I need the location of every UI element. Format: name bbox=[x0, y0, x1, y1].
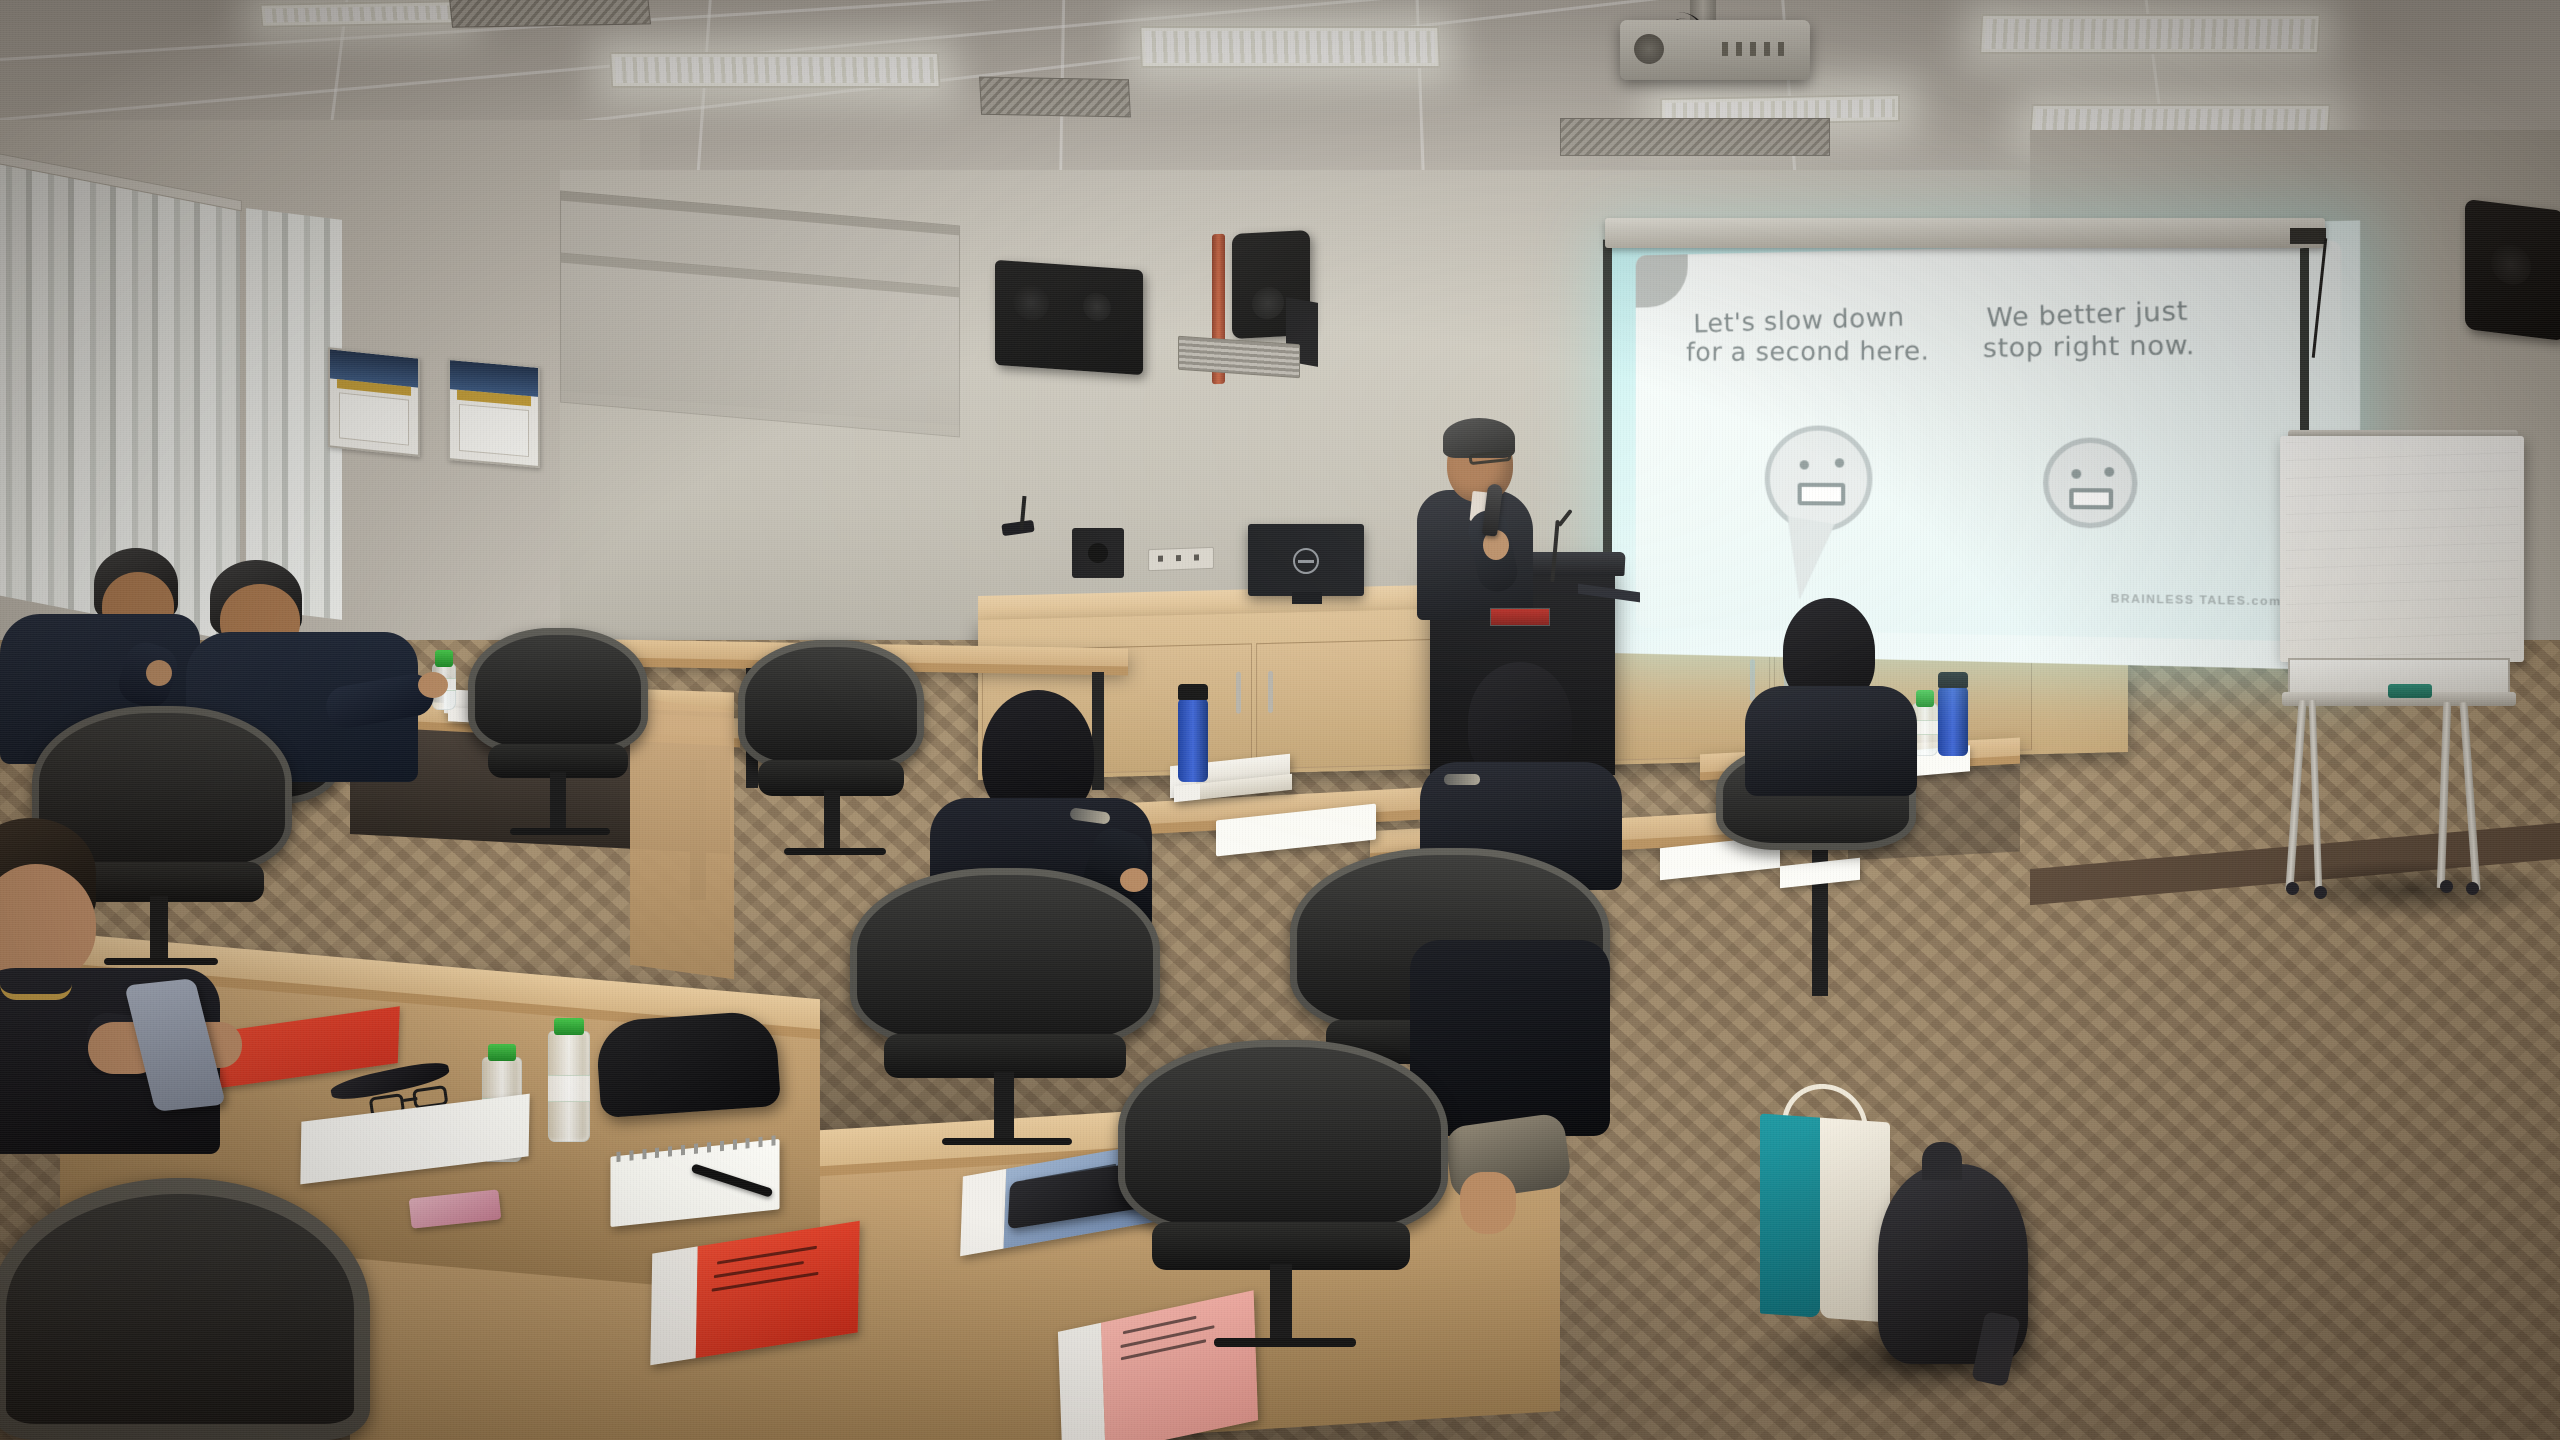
blue-bottle-cap bbox=[1178, 684, 1208, 700]
chair-foreground-left bbox=[0, 1178, 370, 1440]
chair-center-left bbox=[850, 868, 1160, 1168]
chair-midleft-2 bbox=[738, 640, 924, 890]
cabinet-handle[interactable] bbox=[1236, 672, 1241, 714]
classroom-scene: Let's slow down for a second here. We be… bbox=[0, 0, 2560, 1440]
wall-speaker-right bbox=[2465, 199, 2560, 341]
wall-speaker-left bbox=[995, 260, 1143, 375]
slide-text-right: We better just stop right now. bbox=[1986, 293, 2241, 366]
chair-midleft-1 bbox=[468, 628, 648, 868]
flipchart-caster bbox=[2466, 882, 2479, 895]
period-mouth bbox=[2069, 488, 2113, 509]
ceiling-light-panel bbox=[259, 0, 460, 28]
monitor-stand bbox=[1292, 592, 1322, 604]
attendee-back-right bbox=[1745, 598, 1915, 778]
desktop-speaker-icon bbox=[1072, 528, 1124, 578]
comma-eye-right bbox=[1835, 458, 1844, 467]
flipchart-leg bbox=[2309, 700, 2323, 892]
ceiling-air-vent bbox=[449, 0, 651, 28]
comma-eye-left bbox=[1800, 460, 1809, 469]
book-spine bbox=[960, 1169, 1006, 1256]
speaker-cone-icon bbox=[2491, 242, 2531, 287]
ceiling-air-vent bbox=[1560, 118, 1830, 156]
screen-bracket-right bbox=[2290, 228, 2326, 244]
slide-text-left: Let's slow down for a second here. bbox=[1693, 300, 1953, 371]
slide-left-line-2: for a second here. bbox=[1686, 335, 1953, 368]
chair-backrest bbox=[468, 628, 648, 754]
tote-bag-panel-teal bbox=[1760, 1113, 1820, 1317]
chair-base bbox=[784, 848, 886, 855]
ceiling-projector-icon bbox=[1620, 20, 1810, 80]
gold-necklace-icon bbox=[0, 984, 72, 1000]
poster-body bbox=[339, 393, 409, 446]
flipchart-paper[interactable] bbox=[2280, 436, 2524, 662]
flipchart-leg bbox=[2285, 700, 2306, 890]
bottle-label bbox=[548, 1075, 590, 1102]
attendee-center-right bbox=[1420, 662, 1620, 874]
slide-corner-decoration bbox=[1636, 254, 1688, 307]
projector-lens-icon bbox=[1634, 34, 1664, 64]
attendee-hand bbox=[418, 672, 448, 698]
backpack-strap bbox=[1922, 1142, 1962, 1180]
wall-poster-1 bbox=[328, 347, 420, 457]
chair-foreground-mid bbox=[1118, 1040, 1448, 1370]
projector-buttons[interactable] bbox=[1722, 42, 1792, 56]
dell-logo-icon bbox=[1293, 548, 1319, 574]
attendee-foot bbox=[1460, 1172, 1516, 1234]
period-head bbox=[2043, 438, 2137, 529]
speaker-cone-icon bbox=[1252, 286, 1284, 320]
period-eye-left bbox=[2071, 469, 2081, 479]
slide-content: Let's slow down for a second here. We be… bbox=[1636, 240, 2342, 642]
dell-monitor bbox=[1248, 524, 1364, 596]
book-spine bbox=[1174, 783, 1200, 802]
chair-base bbox=[510, 828, 610, 835]
bottle-cap bbox=[554, 1018, 584, 1035]
book-spine bbox=[650, 1246, 698, 1365]
presenter-person bbox=[1415, 418, 1545, 598]
period-character-icon bbox=[2043, 438, 2164, 555]
attendee-hand bbox=[146, 660, 172, 686]
comma-tail bbox=[1775, 516, 1834, 603]
slide-left-line-1: Let's slow down bbox=[1693, 300, 1953, 340]
ceiling-light-panel bbox=[1979, 14, 2321, 54]
chair-gas-lift bbox=[1270, 1264, 1292, 1342]
poster-body bbox=[459, 404, 529, 457]
comma-head bbox=[1765, 425, 1873, 532]
blue-water-bottle bbox=[1938, 686, 1968, 756]
blue-bottle-cap bbox=[1938, 672, 1968, 688]
chair-gas-lift bbox=[550, 772, 566, 832]
podium-logo-badge bbox=[1490, 608, 1550, 626]
backpack bbox=[1878, 1164, 2028, 1364]
slide-watermark: BRAINLESS TALES.com bbox=[2111, 593, 2282, 609]
chair-gas-lift bbox=[824, 790, 840, 852]
flipchart-caster bbox=[2314, 886, 2327, 899]
chair-gas-lift bbox=[994, 1072, 1014, 1142]
water-bottle bbox=[548, 1018, 590, 1142]
attendee-torso bbox=[1745, 686, 1917, 796]
blue-water-bottle bbox=[1178, 698, 1208, 782]
tote-bag bbox=[1760, 1113, 1890, 1322]
speaker-cone-icon bbox=[1083, 292, 1111, 322]
projection-screen-housing bbox=[1605, 218, 2325, 248]
chair-base bbox=[942, 1138, 1072, 1145]
projection-screen: Let's slow down for a second here. We be… bbox=[1610, 220, 2360, 670]
chair-backrest bbox=[738, 640, 924, 770]
period-eye-right bbox=[2104, 467, 2114, 477]
ceiling-light-panel bbox=[609, 52, 940, 88]
zip-pouch-case bbox=[595, 1010, 781, 1118]
slide-right-line-1: We better just bbox=[1986, 293, 2240, 334]
attendee-epaulette bbox=[1444, 774, 1480, 785]
ceiling-air-vent bbox=[979, 77, 1131, 118]
bottle-cap bbox=[1916, 690, 1935, 707]
whiteboard-eraser-icon[interactable] bbox=[2388, 684, 2432, 698]
flipchart-easel[interactable] bbox=[2270, 430, 2540, 900]
chair-seat bbox=[1152, 1222, 1410, 1270]
comma-mouth bbox=[1798, 483, 1846, 506]
flipchart-leg bbox=[2437, 702, 2451, 888]
chair-backrest bbox=[0, 1178, 370, 1440]
slide-right-line-2: stop right now. bbox=[1983, 328, 2241, 364]
chair-backrest bbox=[1118, 1040, 1448, 1236]
book-spine bbox=[1058, 1323, 1106, 1440]
flipchart-caster bbox=[2286, 882, 2299, 895]
chair-base bbox=[1214, 1338, 1356, 1347]
ceiling-light-panel bbox=[1139, 26, 1440, 68]
bottle-cap bbox=[488, 1044, 517, 1061]
cabinet-handle[interactable] bbox=[1268, 671, 1273, 713]
chair-backrest bbox=[850, 868, 1160, 1048]
flipchart-leg bbox=[2459, 702, 2480, 890]
flipchart-caster bbox=[2440, 880, 2453, 893]
speaker-cone-icon bbox=[1013, 283, 1049, 322]
wall-power-outlet[interactable] bbox=[1148, 547, 1214, 571]
wall-poster-2 bbox=[448, 358, 540, 468]
